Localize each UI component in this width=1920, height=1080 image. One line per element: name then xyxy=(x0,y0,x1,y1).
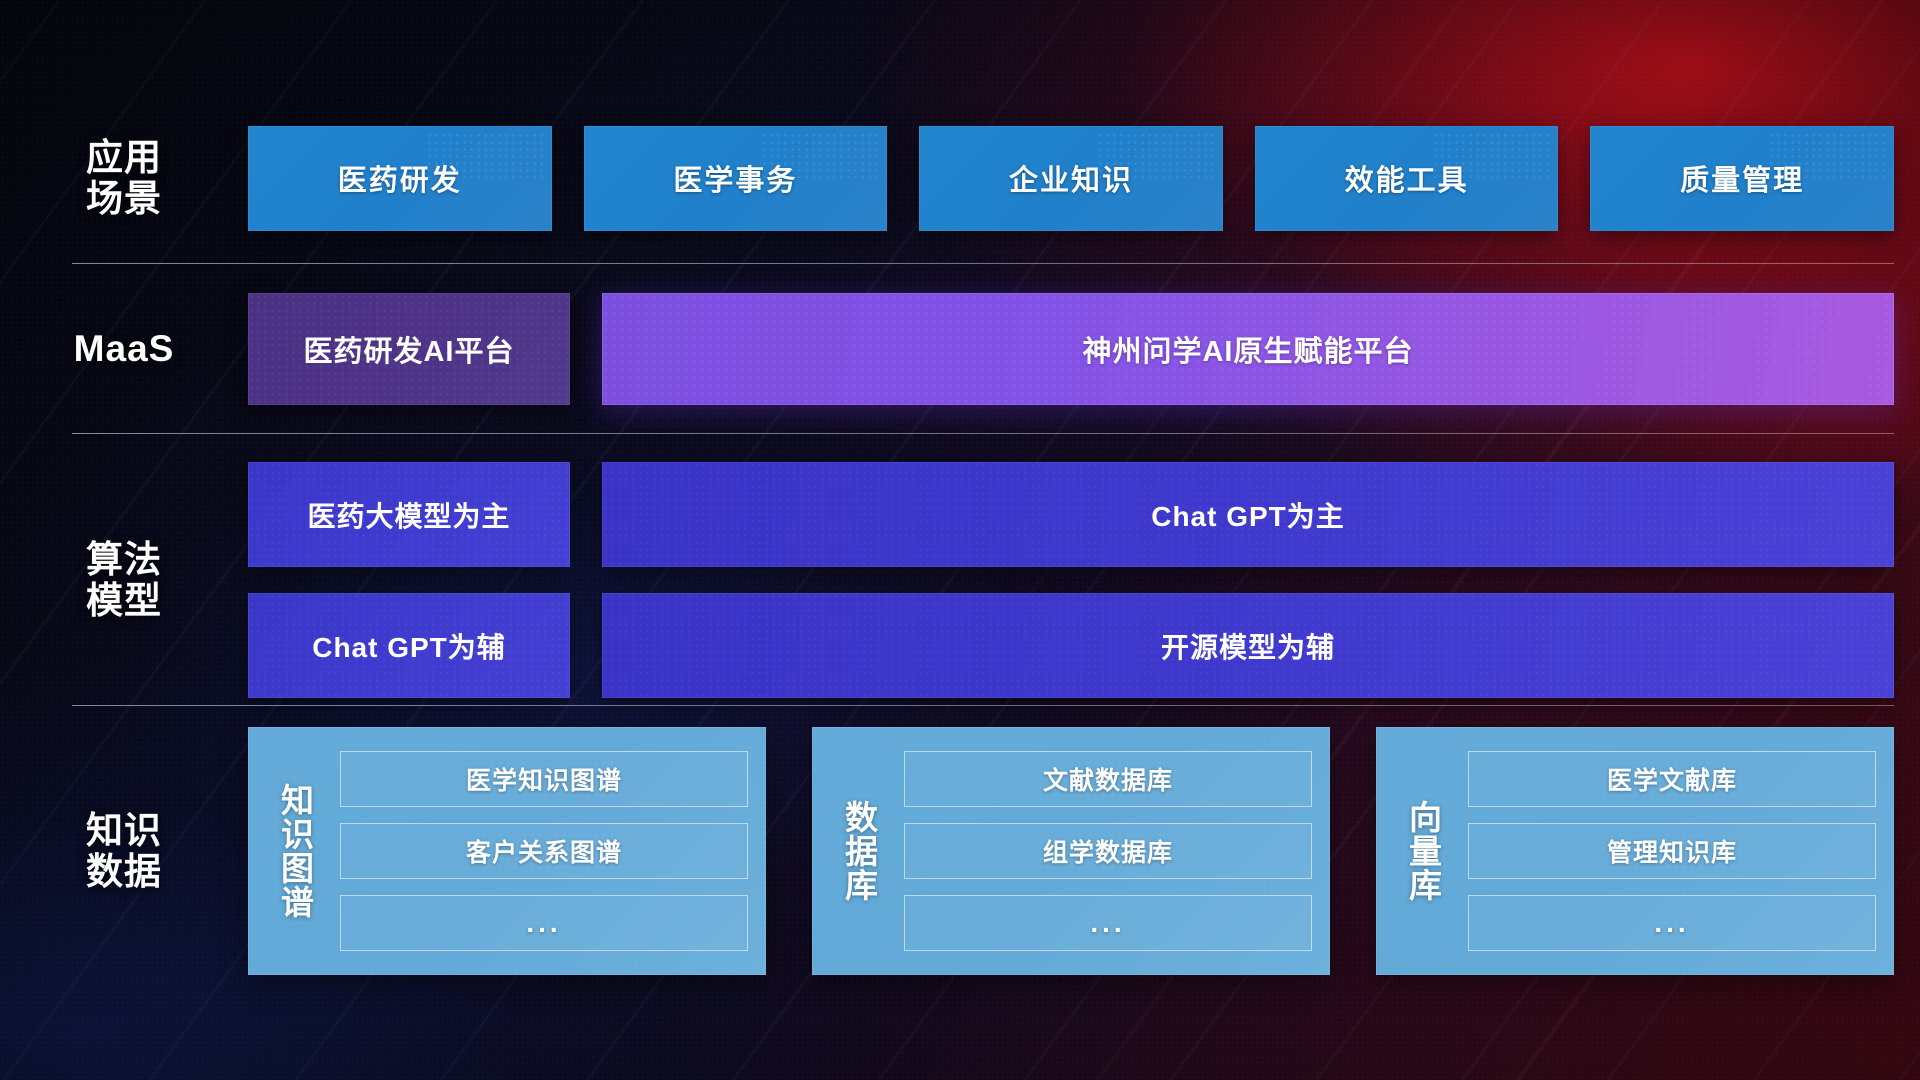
maas-body: 医药研发AI平台 神州问学AI原生赋能平台 xyxy=(248,293,1920,405)
algorithm-main-opensource-secondary[interactable]: 开源模型为辅 xyxy=(602,593,1894,698)
row-label-knowledge-data: 知识 数据 xyxy=(0,810,248,893)
knowledge-item-customer-relation-graph[interactable]: 客户关系图谱 xyxy=(340,823,748,879)
row-label-application-scenarios: 应用 场景 xyxy=(0,137,248,220)
knowledge-item-medical-knowledge-graph[interactable]: 医学知识图谱 xyxy=(340,751,748,807)
knowledge-group-title-database: 数据库 xyxy=(812,745,904,957)
knowledge-item-list-vector-store: 医学文献库 管理知识库 ... xyxy=(1468,745,1876,957)
scenario-card-medical-affairs[interactable]: 医学事务 xyxy=(584,126,888,231)
knowledge-item-more-knowledge-graph[interactable]: ... xyxy=(340,895,748,951)
maas-spacer xyxy=(570,293,602,405)
knowledge-item-management-knowledge-store[interactable]: 管理知识库 xyxy=(1468,823,1876,879)
algorithm-left-medicine-llm[interactable]: 医药大模型为主 xyxy=(248,462,570,567)
scenario-card-efficiency-tools[interactable]: 效能工具 xyxy=(1255,126,1559,231)
knowledge-item-more-vector-store[interactable]: ... xyxy=(1468,895,1876,951)
scenario-card-list: 医药研发 医学事务 企业知识 效能工具 质量管理 xyxy=(248,126,1920,231)
algorithm-line-primary: 医药大模型为主 Chat GPT为主 xyxy=(248,462,1894,567)
row-label-algorithm-models: 算法 模型 xyxy=(0,539,248,622)
knowledge-item-literature-database[interactable]: 文献数据库 xyxy=(904,751,1312,807)
divider-algorithm-knowledge xyxy=(72,705,1894,706)
algorithm-spacer-2 xyxy=(570,593,602,698)
algorithm-spacer-1 xyxy=(570,462,602,567)
row-application-scenarios: 应用 场景 医药研发 医学事务 企业知识 效能工具 质量管理 xyxy=(0,116,1920,240)
row-label-maas: MaaS xyxy=(0,328,248,369)
algorithm-line-secondary: Chat GPT为辅 开源模型为辅 xyxy=(248,593,1894,698)
diagram-content: 应用 场景 医药研发 医学事务 企业知识 效能工具 质量管理 MaaS 医药研发… xyxy=(0,0,1920,1080)
row-maas: MaaS 医药研发AI平台 神州问学AI原生赋能平台 xyxy=(0,287,1920,411)
divider-maas-algorithm xyxy=(72,433,1894,434)
knowledge-group-vector-store[interactable]: 向量库 医学文献库 管理知识库 ... xyxy=(1376,727,1894,975)
knowledge-item-list-knowledge-graph: 医学知识图谱 客户关系图谱 ... xyxy=(340,745,748,957)
algorithm-left-chatgpt-secondary[interactable]: Chat GPT为辅 xyxy=(248,593,570,698)
knowledge-group-knowledge-graph[interactable]: 知识图谱 医学知识图谱 客户关系图谱 ... xyxy=(248,727,766,975)
scenario-card-quality-management[interactable]: 质量管理 xyxy=(1590,126,1894,231)
knowledge-group-title-knowledge-graph: 知识图谱 xyxy=(248,745,340,957)
row-algorithm-models: 算法 模型 医药大模型为主 Chat GPT为主 Chat GPT为辅 开源模型… xyxy=(0,455,1920,705)
knowledge-item-list-database: 文献数据库 组学数据库 ... xyxy=(904,745,1312,957)
knowledge-item-omics-database[interactable]: 组学数据库 xyxy=(904,823,1312,879)
scenario-card-medicine-rd[interactable]: 医药研发 xyxy=(248,126,552,231)
knowledge-item-medical-literature-store[interactable]: 医学文献库 xyxy=(1468,751,1876,807)
knowledge-group-database[interactable]: 数据库 文献数据库 组学数据库 ... xyxy=(812,727,1330,975)
knowledge-body: 知识图谱 医学知识图谱 客户关系图谱 ... 数据库 文献数据库 组学数据库 .… xyxy=(248,727,1920,975)
row-knowledge-data: 知识 数据 知识图谱 医学知识图谱 客户关系图谱 ... 数据库 xyxy=(0,727,1920,975)
algorithm-main-chatgpt-primary[interactable]: Chat GPT为主 xyxy=(602,462,1894,567)
divider-scenarios-maas xyxy=(72,263,1894,264)
algorithm-body: 医药大模型为主 Chat GPT为主 Chat GPT为辅 开源模型为辅 xyxy=(248,462,1920,698)
scenario-card-enterprise-knowledge[interactable]: 企业知识 xyxy=(919,126,1223,231)
architecture-diagram: 应用 场景 医药研发 医学事务 企业知识 效能工具 质量管理 MaaS 医药研发… xyxy=(0,0,1920,1080)
maas-platform-medicine-rd[interactable]: 医药研发AI平台 xyxy=(248,293,570,405)
knowledge-group-title-vector-store: 向量库 xyxy=(1376,745,1468,957)
maas-platform-shenzhou-wenxue[interactable]: 神州问学AI原生赋能平台 xyxy=(602,293,1894,405)
knowledge-item-more-database[interactable]: ... xyxy=(904,895,1312,951)
